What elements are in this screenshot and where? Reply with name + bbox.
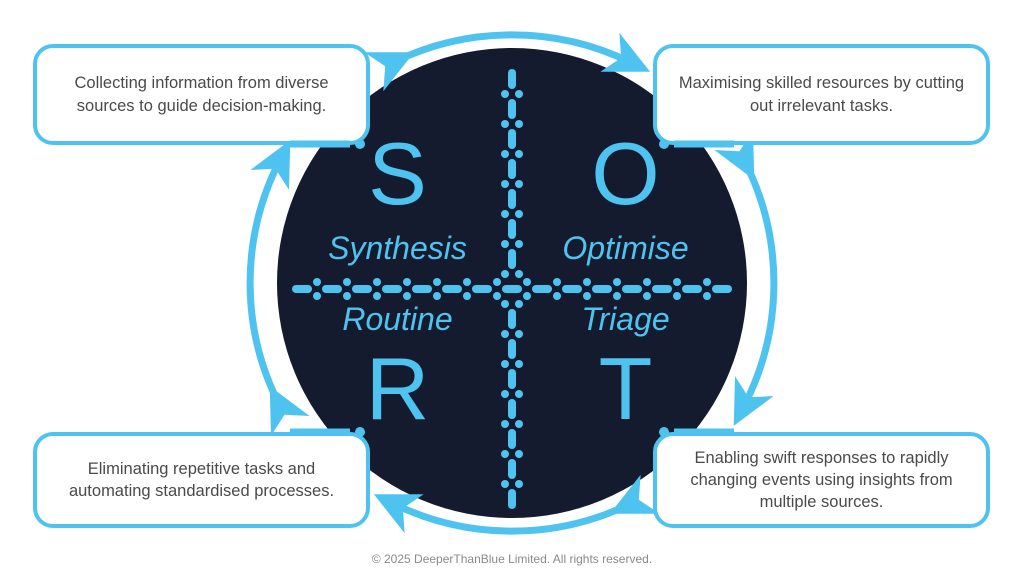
footer-copyright: © 2025 DeeperThanBlue Limited. All right… xyxy=(0,552,1024,566)
sort-diagram: S Synthesis O Optimise Routine R Triage … xyxy=(0,0,1024,577)
connector-dot-synthesis xyxy=(355,139,365,149)
connector-dot-optimise xyxy=(659,139,669,149)
connector-dot-triage xyxy=(659,427,669,437)
callout-connectors xyxy=(0,0,1024,577)
connector-dot-routine xyxy=(355,427,365,437)
